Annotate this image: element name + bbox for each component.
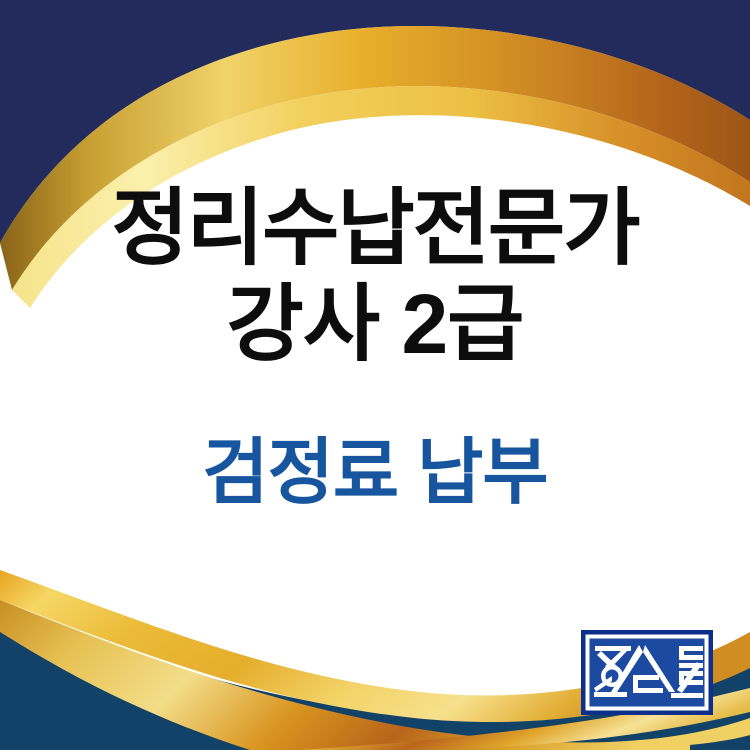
poster-background-artwork: [0, 0, 750, 750]
poster-canvas: 정리수납전문가 강사 2급 검정료 납부: [0, 0, 750, 750]
